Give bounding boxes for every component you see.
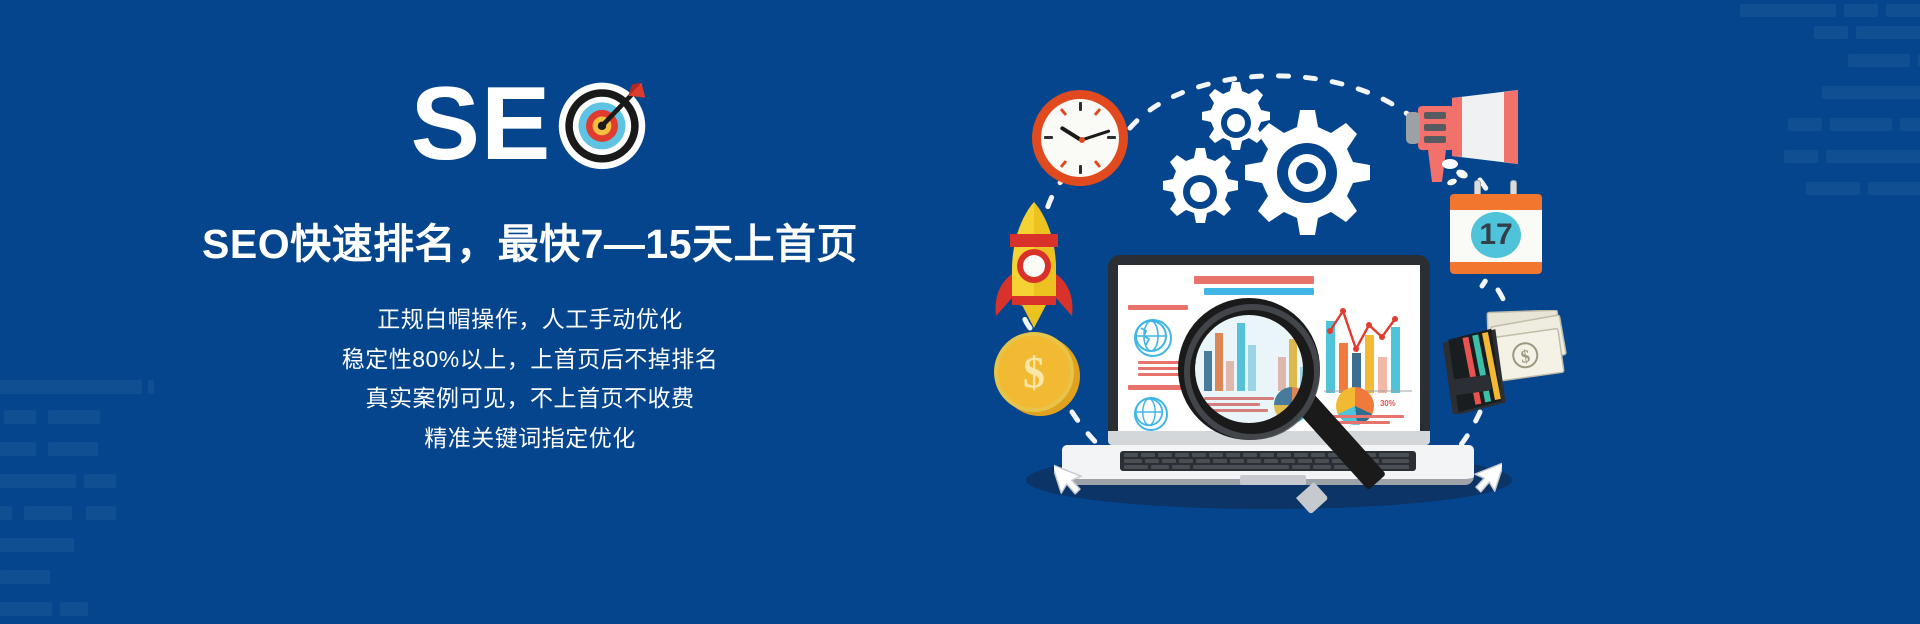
- feature-line-1: 正规白帽操作，人工手动优化: [150, 300, 910, 340]
- magnifying-glass-icon: [1178, 298, 1378, 513]
- code-block-decoration-top-right: [1700, 0, 1920, 200]
- feature-line-4: 精准关键词指定优化: [150, 419, 910, 459]
- megaphone-icon: [1400, 88, 1530, 188]
- bullseye-target-icon: [555, 77, 649, 171]
- calendar-day-number: 17: [1471, 212, 1521, 258]
- code-block-decoration-left: [0, 380, 170, 620]
- feature-line-2: 稳定性80%以上，上首页后不掉排名: [150, 340, 910, 380]
- clock-icon: [1032, 90, 1128, 186]
- seo-banner: SE SEO快速排名，最快7—15天上首页 正规白帽操作，人工手动优化: [0, 0, 1920, 624]
- gears-icon: [1160, 70, 1390, 260]
- rocket-icon: [988, 200, 1080, 330]
- banner-text-column: SE SEO快速排名，最快7—15天上首页 正规白帽操作，人工手动优化: [150, 70, 910, 458]
- feature-line-3: 真实案例可见，不上首页不收费: [150, 379, 910, 419]
- dollar-sign: $: [994, 332, 1074, 412]
- seo-logo: SE: [150, 70, 910, 178]
- page-title: SEO快速排名，最快7—15天上首页: [150, 210, 910, 270]
- seo-illustration: $: [1010, 60, 1570, 560]
- feature-list: 正规白帽操作，人工手动优化 稳定性80%以上，上首页后不掉排名 真实案例可见，不…: [150, 300, 910, 458]
- cursor-arrow-left-icon: [1054, 458, 1084, 503]
- logo-letters: SE: [411, 72, 552, 176]
- cursor-arrow-right-icon: [1472, 456, 1502, 501]
- dashboard-percent-label: 30%: [1380, 399, 1395, 408]
